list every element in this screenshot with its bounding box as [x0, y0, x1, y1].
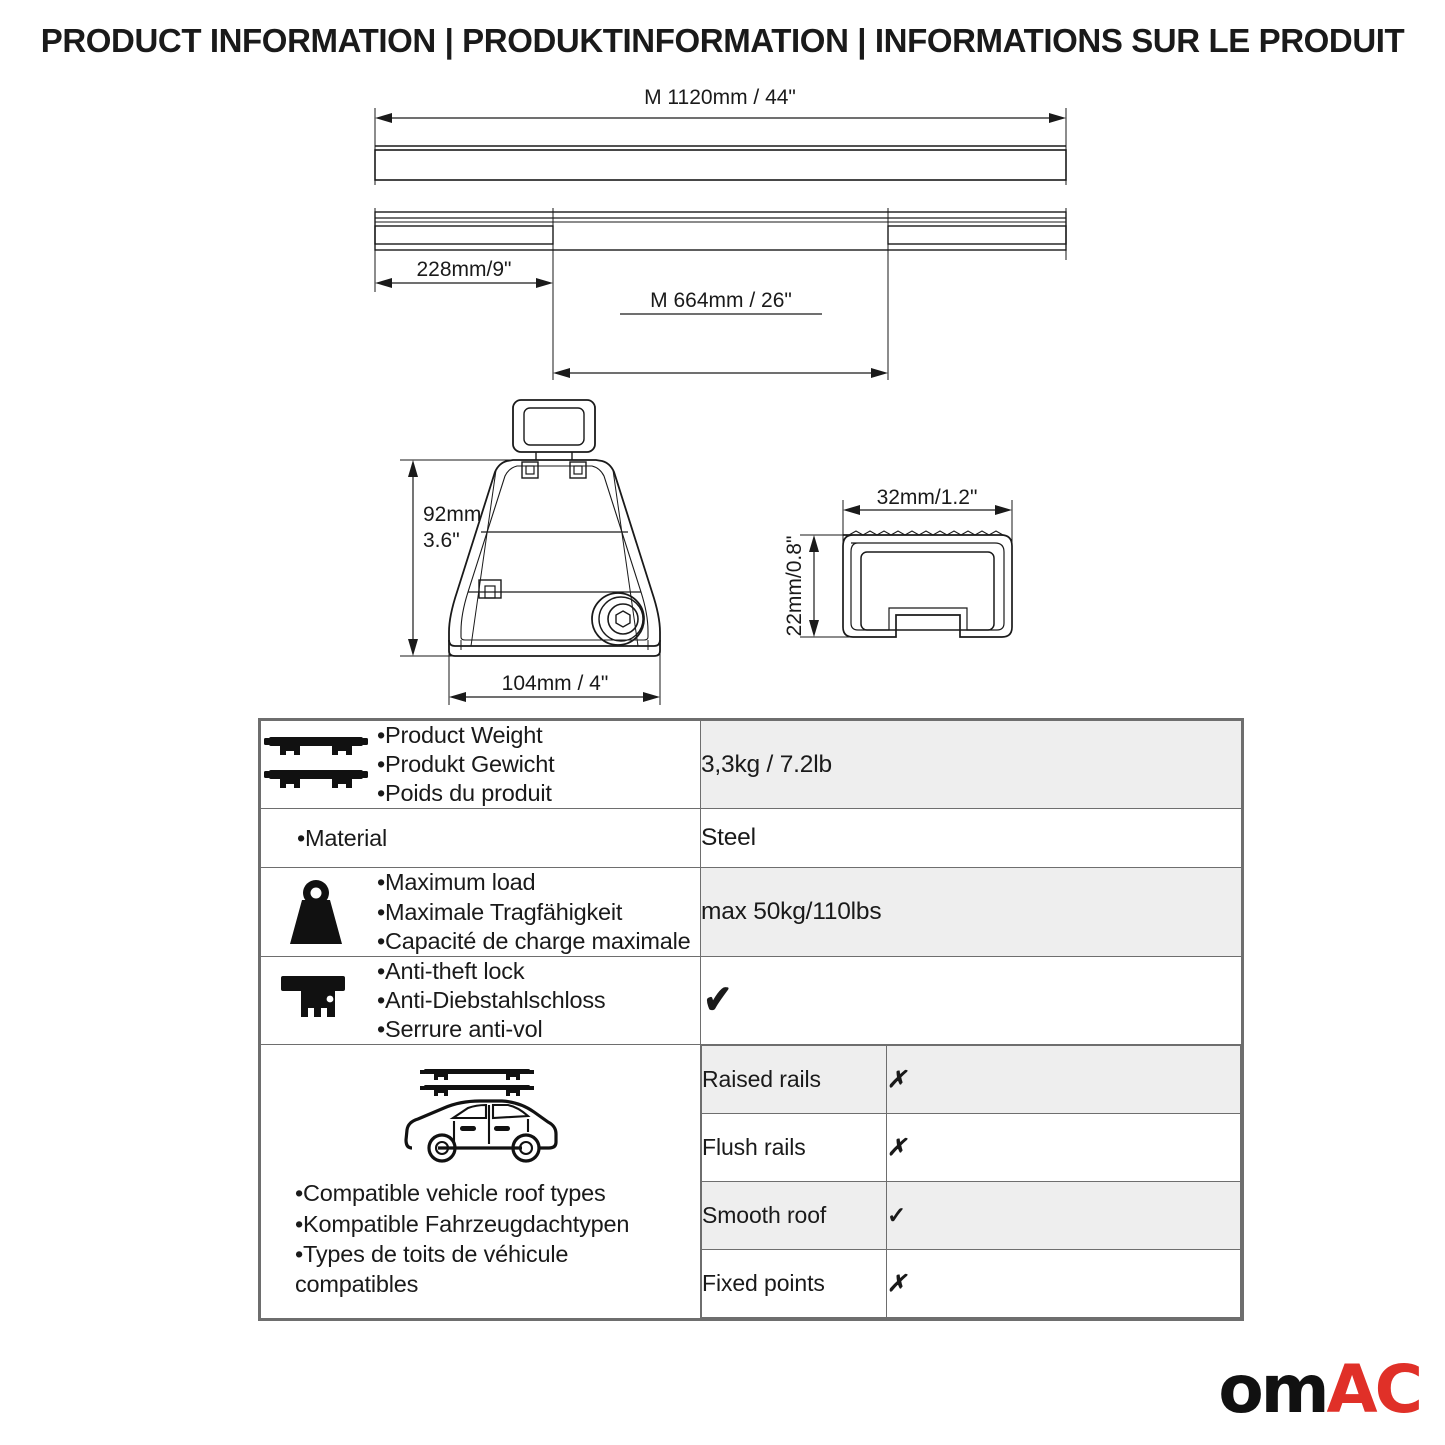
table-row: •Maximum load •Maximale Tragfähigkeit •C… [261, 868, 1242, 956]
label-line-en: •Product Weight [377, 722, 542, 748]
label-line-en: •Anti-theft lock [377, 958, 524, 984]
lock-bar-icon [261, 970, 371, 1030]
roof-type-name-fixed-points: Fixed points [702, 1250, 887, 1318]
spec-label-text-maxload: •Maximum load •Maximale Tragfähigkeit •C… [377, 868, 691, 955]
spec-value-maxload: max 50kg/110lbs [701, 868, 1242, 956]
dim-foot-height-in: 3.6" [423, 529, 460, 552]
car-with-roof-bars-icon [261, 1064, 700, 1172]
roof-type-row: Raised rails ✗ [702, 1046, 1241, 1114]
label-line-en: •Compatible vehicle roof types [295, 1180, 606, 1206]
label-line-fr: •Capacité de charge maximale [377, 928, 691, 954]
spec-value-material: Steel [701, 809, 1242, 868]
roof-types-table: Raised rails ✗ Flush rails ✗ Smooth roof… [701, 1045, 1241, 1318]
table-row: •Anti-theft lock •Anti-Diebstahlschloss … [261, 956, 1242, 1044]
omac-logo: omAC [1218, 1357, 1420, 1423]
label-line-en: •Maximum load [377, 869, 535, 895]
technical-drawing: M 1120mm / 44" 228mm/9" M 664mm / 26" 92… [0, 80, 1445, 710]
roof-type-row: Flush rails ✗ [702, 1114, 1241, 1182]
spec-label-text-material: •Material [261, 824, 387, 853]
dim-foot-height-mm: 92mm [423, 503, 481, 526]
spec-label-cell-lock: •Anti-theft lock •Anti-Diebstahlschloss … [261, 956, 701, 1044]
roof-type-name-smooth-roof: Smooth roof [702, 1182, 887, 1250]
label-line-de: •Maximale Tragfähigkeit [377, 899, 622, 925]
roof-type-name-raised-rails: Raised rails [702, 1046, 887, 1114]
crossbar-pair-icon [261, 732, 371, 798]
spec-label-text-lock: •Anti-theft lock •Anti-Diebstahlschloss … [377, 957, 605, 1044]
spec-label-cell-weight: •Product Weight •Produkt Gewicht •Poids … [261, 721, 701, 809]
roof-type-mark-raised-rails: ✗ [887, 1046, 1241, 1114]
spec-label-cell-material: •Material [261, 809, 701, 868]
weight-icon [261, 876, 371, 948]
dim-profile-width: 32mm/1.2" [877, 486, 978, 509]
logo-text-ac: AC [1326, 1351, 1420, 1428]
specification-table: •Product Weight •Produkt Gewicht •Poids … [258, 718, 1244, 1321]
table-row: •Material Steel [261, 809, 1242, 868]
roof-type-row: Smooth roof ✓ [702, 1182, 1241, 1250]
logo-text-om: om [1218, 1351, 1326, 1428]
spec-value-lock: ✔ [701, 956, 1242, 1044]
roof-type-name-flush-rails: Flush rails [702, 1114, 887, 1182]
checkmark-icon: ✔ [703, 980, 731, 1020]
roof-types-subtable-cell: Raised rails ✗ Flush rails ✗ Smooth roof… [701, 1045, 1242, 1319]
page-title: PRODUCT INFORMATION | PRODUKTINFORMATION… [0, 22, 1445, 60]
dim-foot-width: 104mm / 4" [502, 672, 609, 695]
vehicle-roof-label-text: •Compatible vehicle roof types •Kompatib… [261, 1178, 700, 1298]
spec-value-weight: 3,3kg / 7.2lb [701, 721, 1242, 809]
dim-span: M 664mm / 26" [650, 289, 792, 312]
dim-bar-length: M 1120mm / 44" [644, 86, 796, 109]
spec-label-cell-maxload: •Maximum load •Maximale Tragfähigkeit •C… [261, 868, 701, 956]
table-row: •Product Weight •Produkt Gewicht •Poids … [261, 721, 1242, 809]
roof-type-row: Fixed points ✗ [702, 1250, 1241, 1318]
label-line-de: •Produkt Gewicht [377, 751, 554, 777]
dim-profile-height: 22mm/0.8" [783, 536, 806, 637]
roof-type-mark-flush-rails: ✗ [887, 1114, 1241, 1182]
vehicle-roof-label-cell: •Compatible vehicle roof types •Kompatib… [261, 1045, 701, 1319]
label-line-fr: •Types de toits de véhicule [295, 1241, 568, 1267]
label-line-fr: •Serrure anti-vol [377, 1016, 542, 1042]
roof-type-mark-fixed-points: ✗ [887, 1250, 1241, 1318]
table-row: •Compatible vehicle roof types •Kompatib… [261, 1045, 1242, 1319]
label-line-de: •Kompatible Fahrzeugdachtypen [295, 1211, 629, 1237]
spec-label-text-weight: •Product Weight •Produkt Gewicht •Poids … [377, 721, 554, 808]
dim-end-offset: 228mm/9" [417, 258, 512, 281]
label-line-fr-cont: compatibles [295, 1271, 418, 1297]
roof-type-mark-smooth-roof: ✓ [887, 1182, 1241, 1250]
label-line-fr: •Poids du produit [377, 780, 552, 806]
label-line-de: •Anti-Diebstahlschloss [377, 987, 605, 1013]
